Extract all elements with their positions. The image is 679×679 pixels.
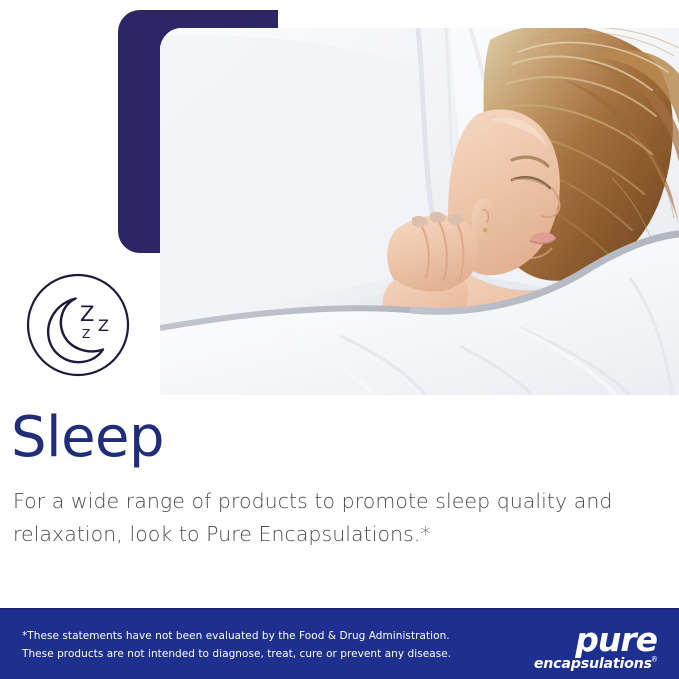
hero-photo [160,28,679,395]
brand-subtitle: encapsulations [534,656,652,672]
footer-bar: *These statements have not been evaluate… [0,608,679,679]
brand-name: pure [507,624,657,656]
pure-encapsulations-logo: pure encapsulations® [507,624,657,673]
zzz-medium: Z [98,316,109,335]
crescent-moon-shape [48,299,103,363]
registered-trademark-icon: ® [652,657,657,664]
zzz-small: Z [82,327,90,341]
icon-circle-outline [28,275,128,375]
brand-subtitle-wrap: encapsulations® [507,655,657,673]
moon-zzz-sleep-icon: Z Z Z [25,272,131,378]
fda-disclaimer-text: *These statements have not been evaluate… [22,627,451,663]
zzz-large: Z [80,302,94,326]
page-title: Sleep [11,409,164,468]
page-description: For a wide range of products to promote … [13,485,653,551]
